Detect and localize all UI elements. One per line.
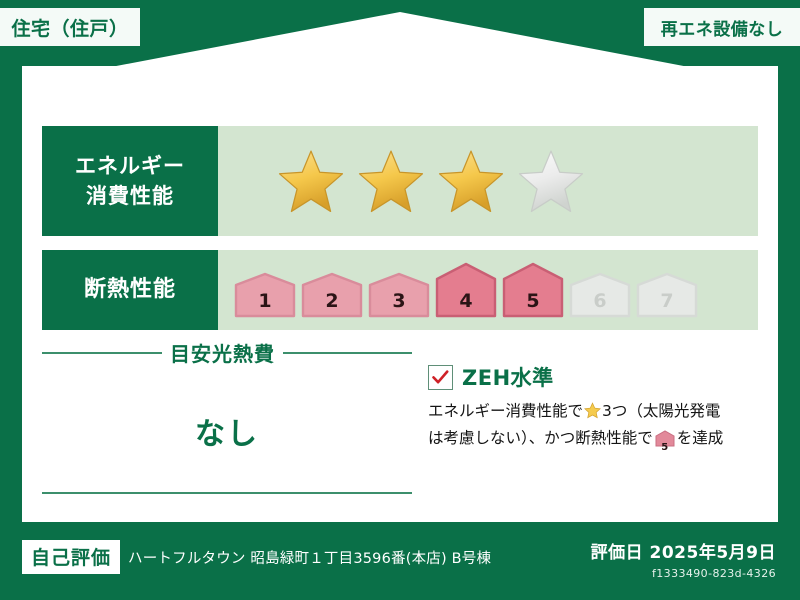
- insulation-performance-label: 断熱性能: [42, 250, 218, 330]
- check-icon: [432, 370, 449, 385]
- zeh-desc-part3: を達成: [677, 429, 724, 447]
- zeh-block: ZEH水準 エネルギー消費性能で 3つ（太陽光発電 は考慮しない）、かつ断熱性能…: [428, 362, 760, 454]
- insulation-grade-scale: 1234567: [218, 262, 698, 318]
- cost-rule-left: [42, 352, 162, 354]
- footer-left: 自己評価 ハートフルタウン 昭島緑町１丁目3596番(本店) B号棟: [22, 540, 491, 574]
- utility-cost-title: 目安光熱費: [170, 338, 275, 367]
- insulation-grade-badge-4: 4: [435, 262, 497, 318]
- utility-cost-value: なし: [42, 409, 412, 453]
- energy-performance-body: [218, 126, 758, 236]
- evaluation-date: 評価日 2025年5月9日: [591, 538, 776, 563]
- utility-cost-underline: [42, 492, 412, 494]
- label-footer: 自己評価 ハートフルタウン 昭島緑町１丁目3596番(本店) B号棟 評価日 2…: [0, 522, 800, 600]
- self-evaluation-badge: 自己評価: [22, 540, 120, 574]
- insulation-grade-badge-2: 2: [301, 272, 363, 318]
- star-rating: [218, 149, 584, 213]
- footer-right: 評価日 2025年5月9日 f1333490-823d-4326: [591, 538, 776, 580]
- energy-performance-row: エネルギー 消費性能: [42, 126, 758, 236]
- insulation-grade-badge-6: 6: [569, 272, 631, 318]
- insulation-grade-badge-3: 3: [368, 272, 430, 318]
- insulation-grade-badge-7: 7: [636, 272, 698, 318]
- property-name: ハートフルタウン 昭島緑町１丁目3596番(本店) B号棟: [128, 547, 491, 568]
- utility-cost-header: 目安光熱費: [42, 338, 412, 367]
- insulation-grade-value-4: 4: [435, 290, 497, 312]
- star-icon-filled: [438, 149, 504, 213]
- insulation-grade-badge-5: 5: [502, 262, 564, 318]
- star-icon-empty: [518, 149, 584, 213]
- renewable-equipment-tag: 再エネ設備なし: [644, 8, 800, 46]
- star-icon-filled: [358, 149, 424, 213]
- insulation-grade-badge-1: 1: [234, 272, 296, 318]
- zeh-header: ZEH水準: [428, 362, 760, 392]
- energy-label-line2: 消費性能: [86, 181, 174, 211]
- zeh-desc-part1: エネルギー消費性能で: [428, 402, 583, 420]
- building-type-tag: 住宅（住戸）: [0, 8, 140, 46]
- insulation-grade-badge-inline: 5: [655, 430, 675, 454]
- insulation-grade-value-2: 2: [301, 290, 363, 312]
- insulation-grade-badge-inline-value: 5: [655, 443, 675, 453]
- insulation-performance-row: 断熱性能 1234567: [42, 250, 758, 330]
- zeh-desc-star-count: 3つ（太陽光発電: [602, 402, 720, 420]
- energy-performance-label: エネルギー 消費性能: [42, 126, 218, 236]
- utility-cost-block: 目安光熱費 なし: [42, 338, 412, 453]
- insulation-grade-value-7: 7: [636, 290, 698, 312]
- insulation-grade-value-3: 3: [368, 290, 430, 312]
- zeh-description: エネルギー消費性能で 3つ（太陽光発電 は考慮しない）、かつ断熱性能で 5 を達…: [428, 399, 760, 454]
- cost-rule-right: [283, 352, 412, 354]
- energy-label-line1: エネルギー: [75, 151, 185, 181]
- energy-performance-label: 住宅（住戸） 再エネ設備なし 建築物省エネ法に基づく 省エネ性能ラベル エネルギ…: [0, 0, 800, 600]
- evaluation-id: f1333490-823d-4326: [591, 567, 776, 580]
- insulation-performance-body: 1234567: [218, 250, 758, 330]
- insulation-label-text: 断熱性能: [84, 276, 176, 305]
- star-icon-filled: [278, 149, 344, 213]
- zeh-title: ZEH水準: [462, 362, 554, 392]
- star-icon: [584, 402, 601, 426]
- insulation-grade-value-6: 6: [569, 290, 631, 312]
- zeh-checkbox[interactable]: [428, 365, 453, 390]
- insulation-grade-value-1: 1: [234, 290, 296, 312]
- insulation-grade-value-5: 5: [502, 290, 564, 312]
- zeh-desc-part2: は考慮しない）、かつ断熱性能で: [428, 429, 653, 447]
